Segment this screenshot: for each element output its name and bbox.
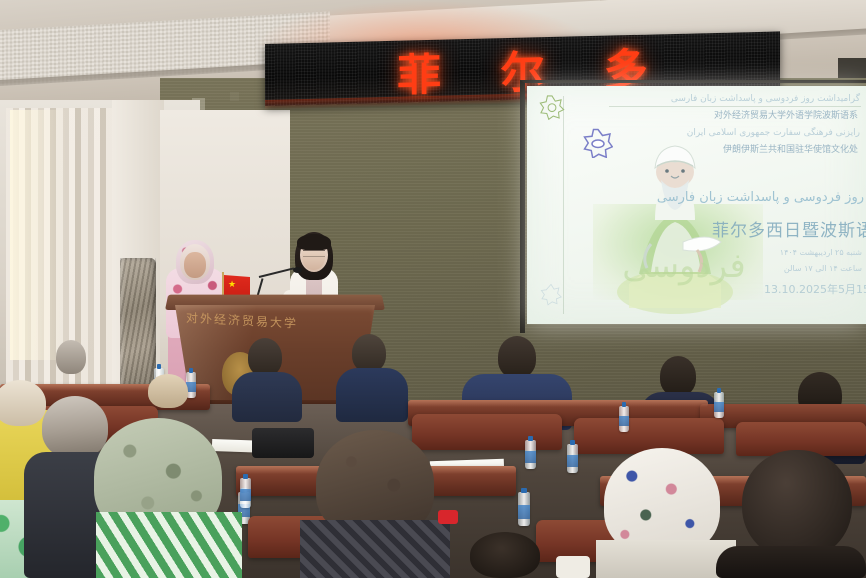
audience-head-back-4 (660, 356, 696, 396)
rosette-emblem-blue-icon (583, 128, 613, 158)
bottle-cap (717, 388, 722, 393)
audience-head-back-1 (248, 338, 282, 376)
auditorium-photo: 菲 尔 多 (0, 0, 866, 578)
audience-torso-back-2 (336, 368, 408, 422)
seat-back-a2 (412, 414, 562, 450)
audience-torso-right-man (716, 546, 866, 578)
slide-chinese-title: 菲尔多西日暨波斯语 (712, 216, 866, 241)
slide-persian-line-2: رایزنی فرهنگی سفارت جمهوری اسلامی ایران (630, 128, 860, 138)
red-object-on-desk (438, 510, 458, 524)
audience-green-leaf-shoulder (96, 512, 242, 578)
bottle-label (518, 505, 530, 519)
audience-torso-back-1 (232, 372, 302, 422)
rosette-emblem-corner-icon (539, 282, 563, 306)
audience-head-yellow (0, 380, 46, 426)
bottle-label (240, 489, 251, 501)
slide-chinese-line-1: 对外经济贸易大学外语学院波斯语系 (608, 108, 858, 121)
bottle-cap (622, 402, 627, 407)
china-flag-star-icon: ★ (228, 279, 236, 290)
slide-persian-line-1: گرامیداشت روز فردوسی و پاسداشت زبان فارس… (610, 94, 860, 104)
wall-tile (230, 92, 239, 101)
audience-dark-shoulder (300, 520, 450, 578)
water-bottle[interactable] (567, 444, 578, 473)
slide-chinese-line-2: 伊朗伊斯兰共和国驻华使馆文化处 (628, 142, 858, 155)
audience-head-right-man (742, 450, 852, 560)
bottle-cap (157, 364, 162, 369)
audience-head-grey-hair (42, 396, 108, 458)
slide-persian-date-1: شنبه ۲۵ اردیبهشت ۱۴۰۴ (662, 248, 862, 257)
bottle-cap (528, 436, 533, 441)
projection-screen: فردوسی گرامیداشت روز فردوسی و پاسداشت زب… (527, 86, 866, 324)
audience-head-back-3 (498, 336, 536, 378)
water-bottle[interactable] (714, 392, 724, 418)
bottle-label (567, 455, 578, 467)
audience-head-bottom-center (470, 532, 540, 578)
bottle-cap (521, 488, 527, 493)
water-bottle[interactable] (619, 406, 629, 432)
bottle-label (714, 402, 724, 412)
speaker2-glasses-icon (303, 250, 325, 257)
bottle-cap (189, 368, 194, 373)
curtain-daylight-glow (10, 110, 66, 360)
bottle-label (619, 416, 629, 426)
water-bottle[interactable] (240, 478, 251, 508)
desk-a-highlight (408, 400, 708, 407)
bottle-cap (570, 440, 575, 445)
speaker1-face (184, 252, 206, 278)
audience-head-back-6 (56, 340, 86, 374)
microphone-head-icon (293, 267, 302, 273)
water-bottle[interactable] (518, 492, 530, 526)
audience-floral-shoulder (596, 540, 736, 578)
laptop-bag[interactable] (252, 428, 314, 458)
slide-divider-horizontal (609, 106, 861, 107)
slide-persian-title: روز فردوسی و پاسداشت زبان فارسی (634, 190, 864, 205)
bottle-cap (243, 474, 248, 479)
slide-date-text: 13.10.2025年5月15 (764, 281, 866, 297)
slide-divider-vertical (563, 96, 564, 314)
audience-white-cap (556, 556, 590, 578)
audience-head-back-2 (352, 334, 386, 372)
speaker2-fringe (297, 234, 331, 250)
bottle-label (525, 451, 536, 463)
audience-head-far-left (148, 374, 188, 408)
rosette-emblem-green-icon (539, 94, 565, 120)
water-bottle[interactable] (525, 440, 536, 469)
slide-persian-date-2: ساعت ۱۴ الی ۱۷ سالن (662, 264, 862, 273)
